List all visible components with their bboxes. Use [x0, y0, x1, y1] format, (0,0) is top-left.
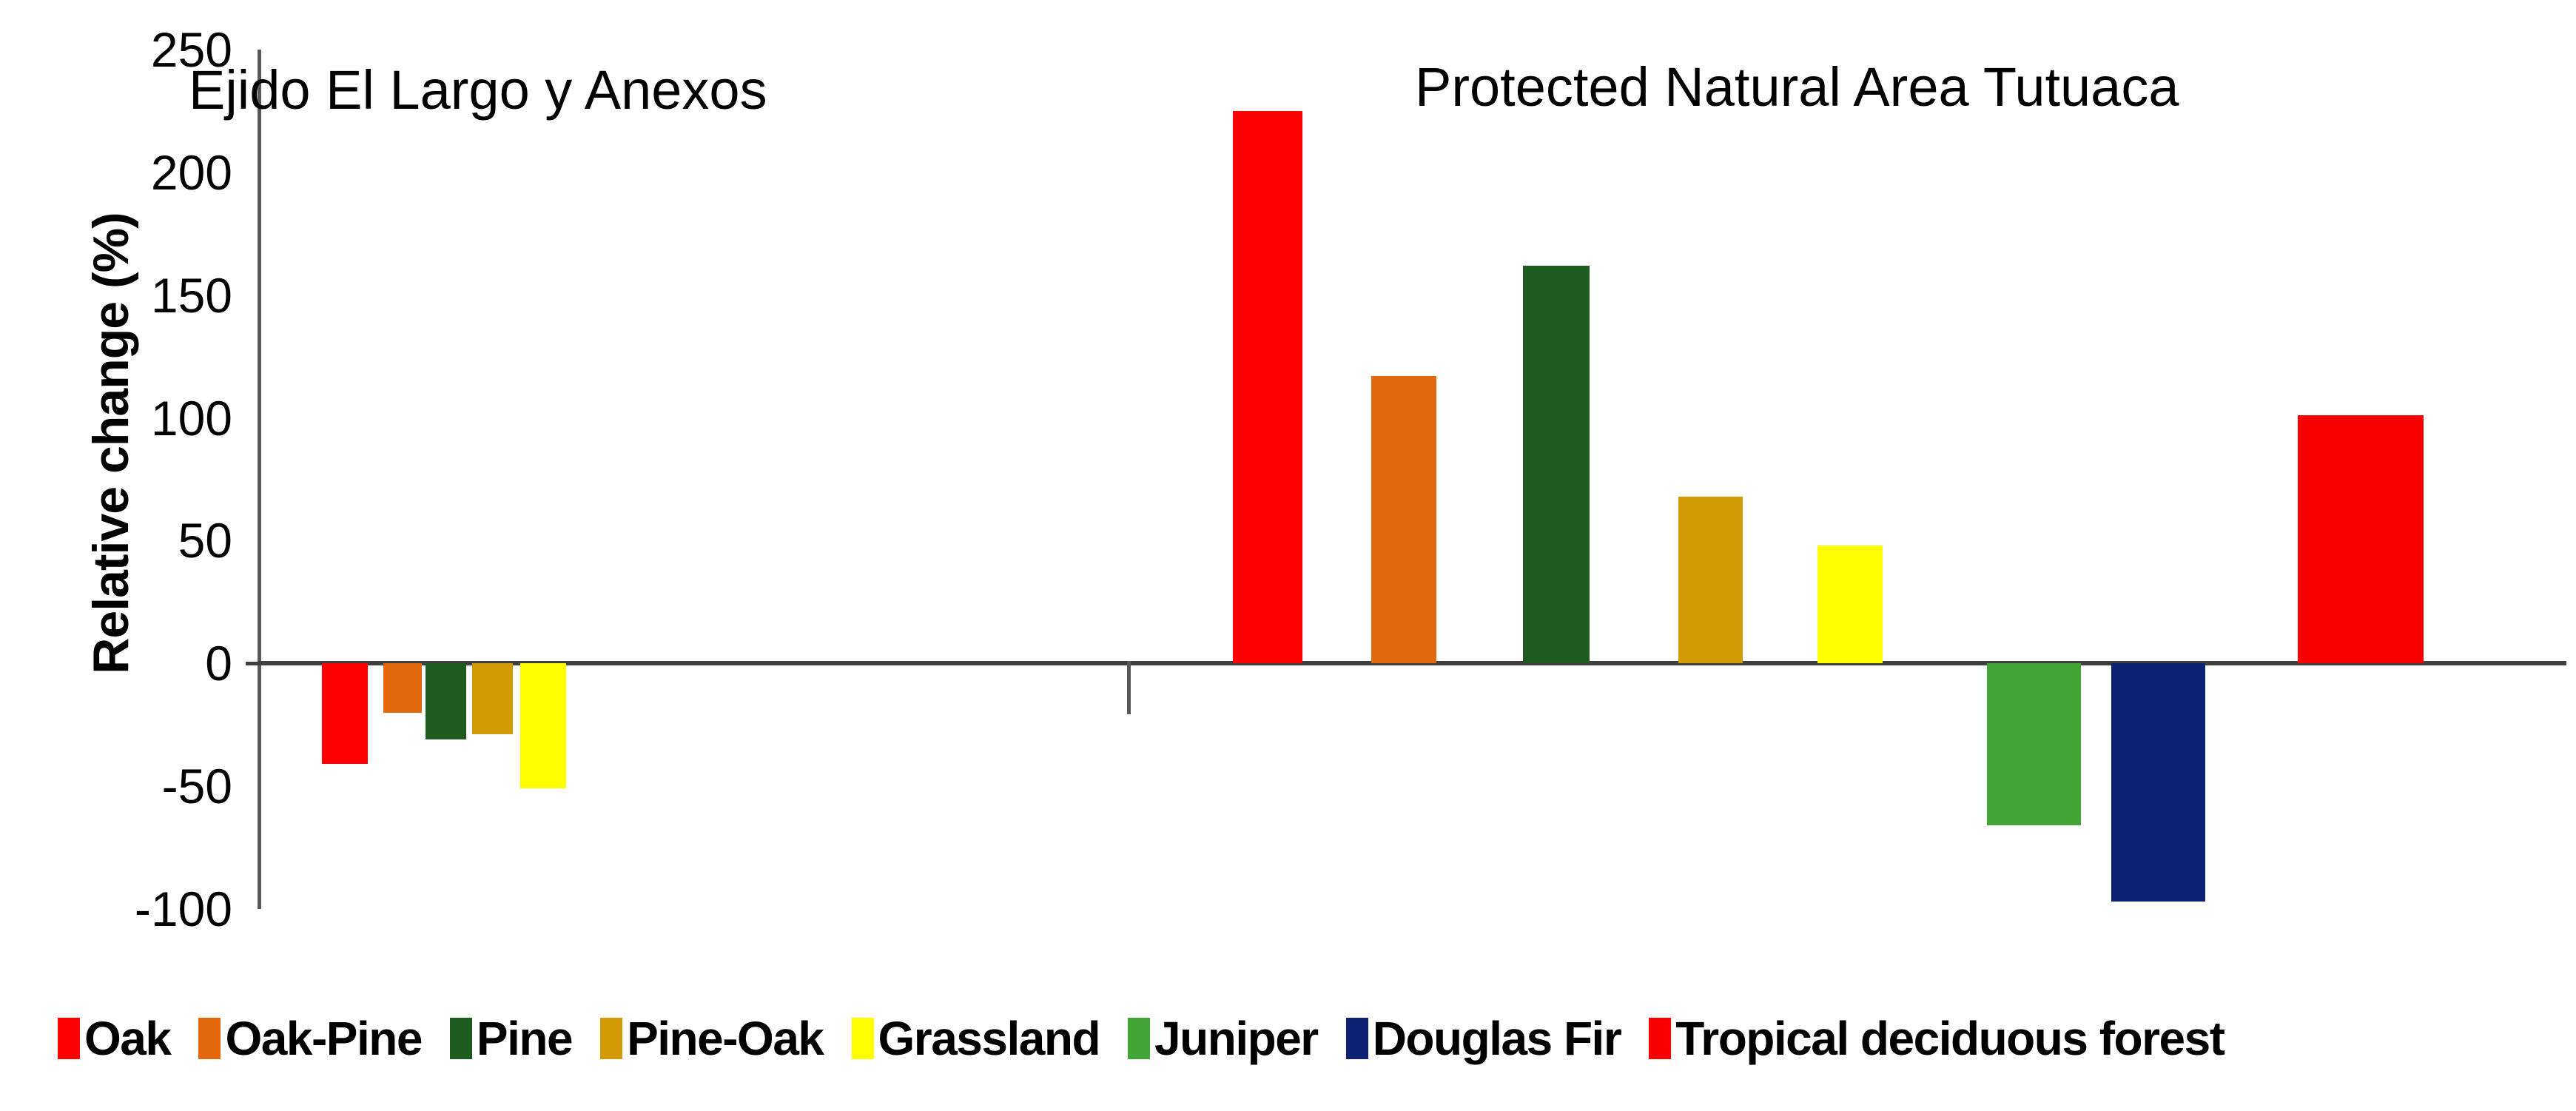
- legend: OakOak-PinePinePine-OakGrasslandJuniperD…: [58, 1013, 2224, 1064]
- legend-swatch-icon: [600, 1018, 622, 1059]
- legend-item[interactable]: Pine-Oak: [600, 1015, 823, 1062]
- y-axis-spine: [258, 50, 261, 909]
- bar: [383, 663, 422, 712]
- bar: [426, 663, 466, 739]
- legend-swatch-icon: [1649, 1018, 1671, 1059]
- legend-label: Douglas Fir: [1373, 1015, 1621, 1062]
- bar: [1523, 266, 1590, 663]
- bar: [322, 663, 368, 764]
- y-tick-label: 100: [151, 394, 232, 443]
- bar: [1371, 376, 1436, 663]
- group-title-protected-natural-area: Protected Natural Area Tutuaca: [1415, 58, 2179, 117]
- legend-swatch-icon: [450, 1018, 472, 1059]
- bar: [1678, 497, 1743, 664]
- legend-label: Oak: [84, 1015, 170, 1062]
- plot-area: [258, 50, 2566, 909]
- legend-item[interactable]: Grassland: [852, 1015, 1100, 1062]
- legend-swatch-icon: [58, 1018, 80, 1059]
- y-tick-label: 200: [151, 148, 232, 197]
- legend-label: Juniper: [1154, 1015, 1318, 1062]
- bar: [1817, 546, 1883, 663]
- bar: [2298, 415, 2424, 663]
- legend-item[interactable]: Tropical deciduous forest: [1649, 1015, 2224, 1062]
- legend-label: Pine: [477, 1015, 572, 1062]
- y-tick-label: -50: [162, 762, 232, 810]
- legend-swatch-icon: [1128, 1018, 1150, 1059]
- legend-item[interactable]: Juniper: [1128, 1015, 1318, 1062]
- legend-item[interactable]: Oak: [58, 1015, 170, 1062]
- legend-label: Tropical deciduous forest: [1675, 1015, 2224, 1062]
- legend-label: Pine-Oak: [627, 1015, 823, 1062]
- y-tick-label: 150: [151, 271, 232, 320]
- y-tick-label: 50: [178, 516, 232, 565]
- bar: [1233, 111, 1302, 663]
- legend-item[interactable]: Pine: [450, 1015, 572, 1062]
- group-divider-tick: [1127, 661, 1131, 714]
- legend-swatch-icon: [852, 1018, 874, 1059]
- legend-label: Grassland: [878, 1015, 1100, 1062]
- legend-item[interactable]: Oak-Pine: [198, 1015, 421, 1062]
- legend-item[interactable]: Douglas Fir: [1346, 1015, 1621, 1062]
- bar: [472, 663, 513, 734]
- y-tick-label: -100: [135, 885, 232, 933]
- legend-label: Oak-Pine: [225, 1015, 421, 1062]
- legend-swatch-icon: [198, 1018, 221, 1059]
- y-tick-label: 0: [205, 639, 232, 688]
- legend-swatch-icon: [1346, 1018, 1368, 1059]
- bar: [1987, 663, 2081, 825]
- y-axis-tick-labels: 250200150100500-50-100: [44, 0, 246, 962]
- bar: [2111, 663, 2205, 902]
- group-title-ejido-el-largo: Ejido El Largo y Anexos: [189, 61, 767, 120]
- zero-tick-mark: [246, 662, 258, 665]
- bar: [520, 663, 566, 788]
- relative-change-bar-chart: Relative change (%) 250200150100500-50-1…: [0, 0, 2576, 1111]
